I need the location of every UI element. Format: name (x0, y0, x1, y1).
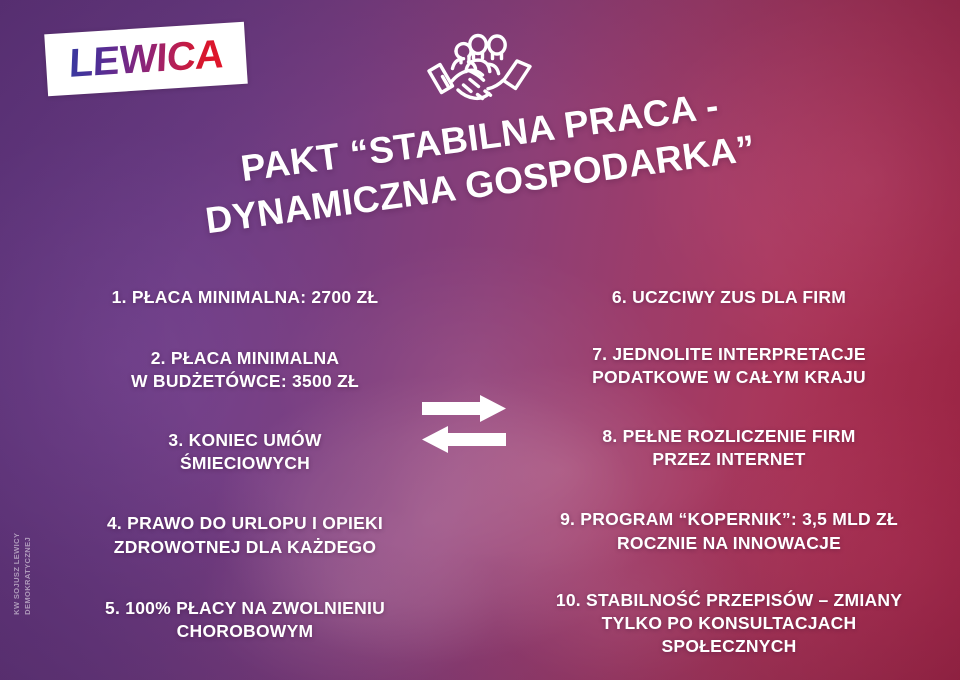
campaign-poster: LEWICA (0, 0, 960, 680)
promise-column-left: 1. PŁACA MINIMALNA: 2700 ZŁ 2. PŁACA MIN… (0, 278, 476, 638)
promise-item: 8. PEŁNE ROZLICZENIE FIRM PRZEZ INTERNET (498, 425, 960, 471)
promise-item: 6. UCZCIWY ZUS DLA FIRM (498, 286, 960, 309)
lewica-logo: LEWICA (44, 22, 247, 96)
promise-item: 3. KONIEC UMÓW ŚMIECIOWYCH (14, 429, 476, 475)
promise-item: 10. STABILNOŚĆ PRZEPISÓW – ZMIANY TYLKO … (498, 589, 960, 658)
election-committee-note: KW SOJUSZ LEWICY DEMOKRATYCZNEJ (12, 475, 34, 615)
promise-item: 9. PROGRAM “KOPERNIK”: 3,5 MLD ZŁ ROCZNI… (498, 508, 960, 554)
promise-item: 5. 100% PŁACY NA ZWOLNIENIU CHOROBOWYM (14, 597, 476, 643)
two-way-arrows-icon (420, 394, 508, 454)
promise-column-right: 6. UCZCIWY ZUS DLA FIRM 7. JEDNOLITE INT… (476, 278, 960, 638)
handshake-people-icon (418, 24, 538, 106)
promise-item: 7. JEDNOLITE INTERPRETACJE PODATKOWE W C… (498, 343, 960, 389)
promise-item: 1. PŁACA MINIMALNA: 2700 ZŁ (14, 286, 476, 309)
promise-item: 4. PRAWO DO URLOPU I OPIEKI ZDROWOTNEJ D… (14, 512, 476, 558)
promise-item: 2. PŁACA MINIMALNA W BUDŻETÓWCE: 3500 ZŁ (14, 347, 476, 393)
promise-columns: 1. PŁACA MINIMALNA: 2700 ZŁ 2. PŁACA MIN… (0, 278, 960, 638)
lewica-logo-text: LEWICA (68, 34, 224, 84)
